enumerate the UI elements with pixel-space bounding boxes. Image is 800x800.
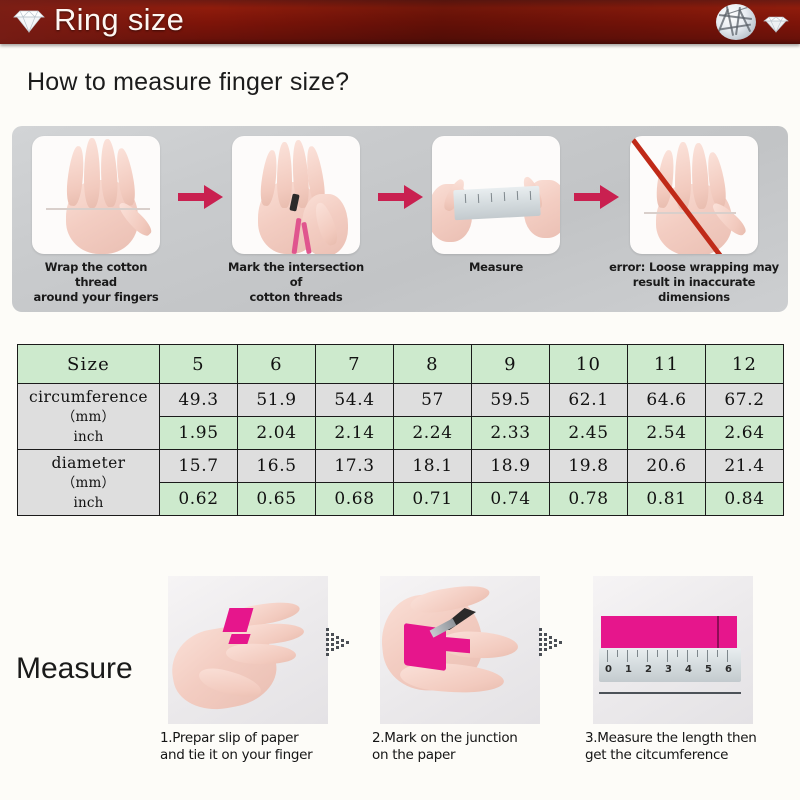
cell-circ-mm-6: 51.9: [238, 384, 316, 417]
step-4-line2: result in inaccurate dimensions: [633, 275, 756, 304]
cell-diam-in-11: 0.81: [628, 483, 706, 516]
step-3: Measure: [422, 136, 570, 275]
step-4-caption: error: Loose wrapping may result in inac…: [605, 260, 783, 305]
measure-step-3-caption: 3.Measure the length then get the citcum…: [585, 730, 769, 764]
row-label-diameter-inch: inch: [20, 493, 157, 513]
cell-diam-mm-7: 17.3: [316, 450, 394, 483]
table-row-circumference-mm: circumference （mm） inch 49.3 51.9 54.4 5…: [18, 384, 784, 417]
step-1: Wrap the cotton thread around your finge…: [22, 136, 170, 305]
cell-circ-mm-9: 59.5: [472, 384, 550, 417]
ruler-tick-3: 3: [665, 664, 672, 675]
cell-circ-mm-8: 57: [394, 384, 472, 417]
measure-step-3-line2: get the citcumference: [585, 747, 728, 763]
hand-loose-thread-error-photo: [630, 136, 758, 254]
measure-step-3-line1: 3.Measure the length then: [585, 730, 757, 746]
step-4: error: Loose wrapping may result in inac…: [620, 136, 768, 305]
ruler-tick-1: 1: [625, 664, 632, 675]
cell-diam-mm-10: 19.8: [550, 450, 628, 483]
page-title-banner: Ring size: [54, 2, 184, 38]
step-2-caption: Mark the intersection of cotton threads: [222, 260, 370, 305]
paper-strip-on-ruler-photo: 0 1 2 3 4 5 6: [593, 576, 753, 724]
table-row-diameter-mm: diameter （mm） inch 15.7 16.5 17.3 18.1 1…: [18, 450, 784, 483]
cell-diam-mm-5: 15.7: [160, 450, 238, 483]
cell-circ-mm-10: 62.1: [550, 384, 628, 417]
row-label-circumference-inch: inch: [20, 427, 157, 447]
header-size-10: 10: [550, 345, 628, 384]
step-2: Mark the intersection of cotton threads: [222, 136, 370, 305]
cell-circ-in-6: 2.04: [238, 417, 316, 450]
round-brilliant-diamond-icon: [716, 4, 756, 40]
cell-diam-mm-12: 21.4: [706, 450, 784, 483]
cell-circ-mm-7: 54.4: [316, 384, 394, 417]
step-2-line2: cotton threads: [250, 290, 343, 304]
dotted-triangle-arrow-icon-2: [535, 622, 569, 666]
cell-circ-in-5: 1.95: [160, 417, 238, 450]
cell-circ-mm-12: 67.2: [706, 384, 784, 417]
cell-diam-mm-11: 20.6: [628, 450, 706, 483]
dotted-triangle-arrow-icon-1: [322, 622, 356, 666]
step-3-line1: Measure: [469, 260, 523, 274]
measure-step-2: 2.Mark on the junction on the paper: [372, 576, 548, 764]
diamond-icon: [12, 9, 46, 33]
hand-with-paper-strip-photo: [168, 576, 328, 724]
banner-gem-group: [708, 2, 794, 42]
ruler-tick-6: 6: [725, 664, 732, 675]
hands-marking-thread-photo: [232, 136, 360, 254]
header-size-8: 8: [394, 345, 472, 384]
measure-steps-panel: Wrap the cotton thread around your finge…: [12, 126, 788, 312]
arrow-right-icon-2: [378, 182, 424, 212]
row-label-diameter: diameter （mm） inch: [18, 450, 160, 516]
measure-step-1-caption: 1.Prepar slip of paper and tie it on you…: [160, 730, 344, 764]
cell-circ-in-10: 2.45: [550, 417, 628, 450]
cell-diam-in-9: 0.74: [472, 483, 550, 516]
step-1-caption: Wrap the cotton thread around your finge…: [22, 260, 170, 305]
step-2-line1: Mark the intersection of: [228, 260, 364, 289]
hand-with-thread-photo: [32, 136, 160, 254]
cell-diam-in-8: 0.71: [394, 483, 472, 516]
cell-diam-in-7: 0.68: [316, 483, 394, 516]
header-size-9: 9: [472, 345, 550, 384]
measure-step-1-line1: 1.Prepar slip of paper: [160, 730, 298, 746]
arrow-right-icon-1: [178, 182, 224, 212]
header-size-11: 11: [628, 345, 706, 384]
arrow-right-icon-3: [574, 182, 620, 212]
row-label-diameter-main: diameter: [51, 454, 125, 472]
row-label-diameter-unit: （mm）: [20, 473, 157, 493]
hand-measuring-with-ruler-photo: [432, 136, 560, 254]
cell-circ-in-9: 2.33: [472, 417, 550, 450]
ruler-tick-0: 0: [605, 664, 612, 675]
row-label-circumference-unit: （mm）: [20, 407, 157, 427]
measure-step-3: 0 1 2 3 4 5 6 3.Measure the length then …: [585, 576, 761, 764]
header-size-6: 6: [238, 345, 316, 384]
marking-paper-strip-photo: [380, 576, 540, 724]
diamond-icon-small: [762, 15, 790, 33]
header-size-label: Size: [18, 345, 160, 384]
cell-diam-mm-6: 16.5: [238, 450, 316, 483]
cell-diam-in-10: 0.78: [550, 483, 628, 516]
cell-diam-in-12: 0.84: [706, 483, 784, 516]
step-3-caption: Measure: [422, 260, 570, 275]
table-header-row: Size 5 6 7 8 9 10 11 12: [18, 345, 784, 384]
row-label-circumference-main: circumference: [29, 388, 148, 406]
header-size-7: 7: [316, 345, 394, 384]
measure-step-2-caption: 2.Mark on the junction on the paper: [372, 730, 556, 764]
cell-circ-mm-11: 64.6: [628, 384, 706, 417]
measure-step-2-line1: 2.Mark on the junction: [372, 730, 518, 746]
row-label-circumference: circumference （mm） inch: [18, 384, 160, 450]
page-title: How to measure finger size?: [27, 68, 349, 97]
step-1-line2: around your fingers: [33, 290, 158, 304]
cell-circ-in-12: 2.64: [706, 417, 784, 450]
header-size-5: 5: [160, 345, 238, 384]
cell-diam-mm-9: 18.9: [472, 450, 550, 483]
measure-step-2-line2: on the paper: [372, 747, 455, 763]
cell-diam-in-6: 0.65: [238, 483, 316, 516]
step-1-line1: Wrap the cotton thread: [45, 260, 147, 289]
cell-diam-mm-8: 18.1: [394, 450, 472, 483]
step-4-line1: error: Loose wrapping may: [609, 260, 779, 274]
header-size-12: 12: [706, 345, 784, 384]
page-banner: Ring size: [0, 0, 800, 44]
measure-step-1-line2: and tie it on your finger: [160, 747, 312, 763]
cell-circ-in-7: 2.14: [316, 417, 394, 450]
ruler-tick-4: 4: [685, 664, 692, 675]
measure-heading: Measure: [16, 652, 133, 686]
cell-diam-in-5: 0.62: [160, 483, 238, 516]
ruler-tick-2: 2: [645, 664, 652, 675]
ring-size-table: Size 5 6 7 8 9 10 11 12 circumference （m…: [17, 344, 784, 516]
cell-circ-in-11: 2.54: [628, 417, 706, 450]
measure-step-1: 1.Prepar slip of paper and tie it on you…: [160, 576, 336, 764]
cell-circ-in-8: 2.24: [394, 417, 472, 450]
ruler-tick-5: 5: [705, 664, 712, 675]
cell-circ-mm-5: 49.3: [160, 384, 238, 417]
